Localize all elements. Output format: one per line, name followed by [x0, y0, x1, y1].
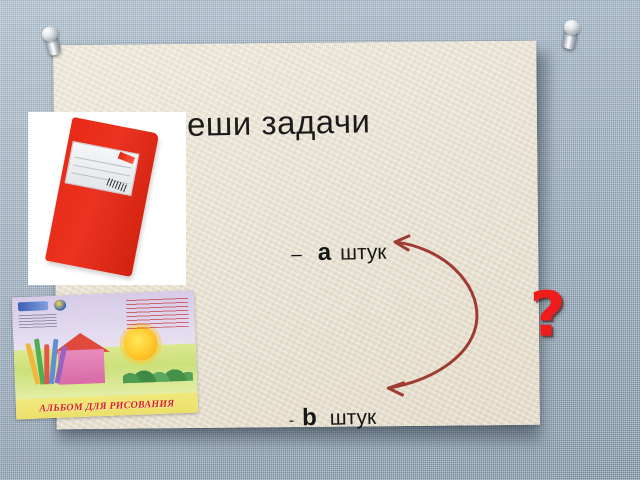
variable-b: b [302, 404, 317, 431]
label-red-mark [118, 152, 135, 164]
curved-double-arrow-icon [373, 227, 525, 398]
drawing-album-cover-photo: АЛЬБОМ ДЛЯ РИСОВАНИЯ [12, 291, 199, 420]
label-print-mark [106, 178, 128, 193]
dash-b: - [289, 412, 295, 429]
top-right-pin-icon [555, 18, 587, 56]
slide-canvas: Реши задачи В –aштук -bштук ? [0, 0, 640, 480]
unit-b: штук [330, 406, 377, 430]
dash-a: – [291, 244, 302, 265]
page-title: Реши задачи [166, 101, 371, 145]
album-fineprint-left [18, 313, 57, 328]
album-trees [122, 355, 193, 384]
question-mark-icon: ? [529, 283, 566, 345]
top-left-pin-icon [36, 23, 69, 62]
notebook-cover [45, 117, 159, 277]
variable-a: a [317, 239, 331, 266]
quantity-line-b: -bштук [288, 403, 376, 433]
red-exercise-notebook-photo [28, 112, 186, 285]
album-fineprint-right [126, 297, 189, 329]
album-brand-logo [18, 301, 48, 311]
album-caption: АЛЬБОМ ДЛЯ РИСОВАНИЯ [39, 398, 174, 414]
album-pencils-icon [29, 336, 65, 385]
